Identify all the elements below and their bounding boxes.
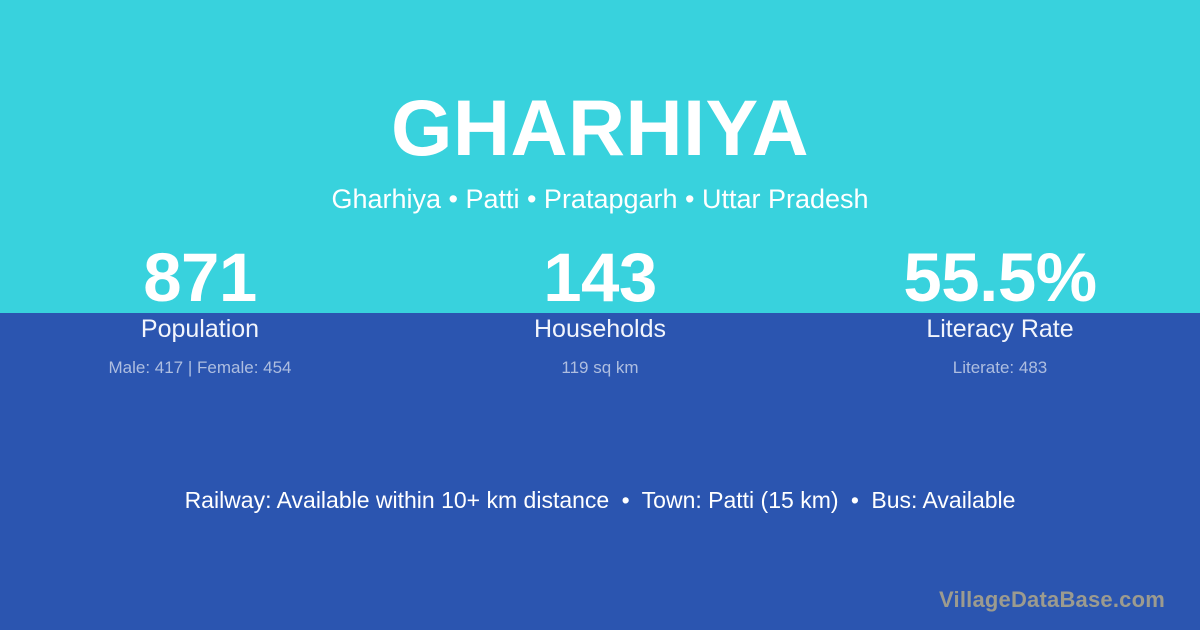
page-title: GHARHIYA — [0, 88, 1200, 167]
info-separator-icon: • — [845, 487, 865, 513]
stat-subtext: Literate: 483 — [800, 357, 1200, 379]
town-info: Town: Patti (15 km) — [642, 487, 839, 513]
amenities-info-line: Railway: Available within 10+ km distanc… — [0, 486, 1200, 514]
village-info-card: GHARHIYA Gharhiya • Patti • Pratapgarh •… — [0, 0, 1200, 630]
stat-value: 143 — [400, 243, 800, 313]
stat-value: 55.5% — [800, 243, 1200, 313]
stat-value: 871 — [0, 243, 400, 313]
stat-population: 871 Population Male: 417 | Female: 454 — [0, 243, 400, 379]
stat-literacy-rate: 55.5% Literacy Rate Literate: 483 — [800, 243, 1200, 379]
stat-label: Households — [400, 314, 800, 344]
stat-subtext: Male: 417 | Female: 454 — [0, 357, 400, 379]
bus-info: Bus: Available — [871, 487, 1015, 513]
stat-label: Population — [0, 314, 400, 344]
stat-households: 143 Households 119 sq km — [400, 243, 800, 379]
breadcrumb: Gharhiya • Patti • Pratapgarh • Uttar Pr… — [0, 183, 1200, 215]
info-separator-icon: • — [616, 487, 636, 513]
site-brand-watermark: VillageDataBase.com — [939, 587, 1165, 613]
stats-row: 871 Population Male: 417 | Female: 454 1… — [0, 243, 1200, 379]
railway-info: Railway: Available within 10+ km distanc… — [185, 487, 610, 513]
stat-subtext: 119 sq km — [400, 357, 800, 379]
stat-label: Literacy Rate — [800, 314, 1200, 344]
